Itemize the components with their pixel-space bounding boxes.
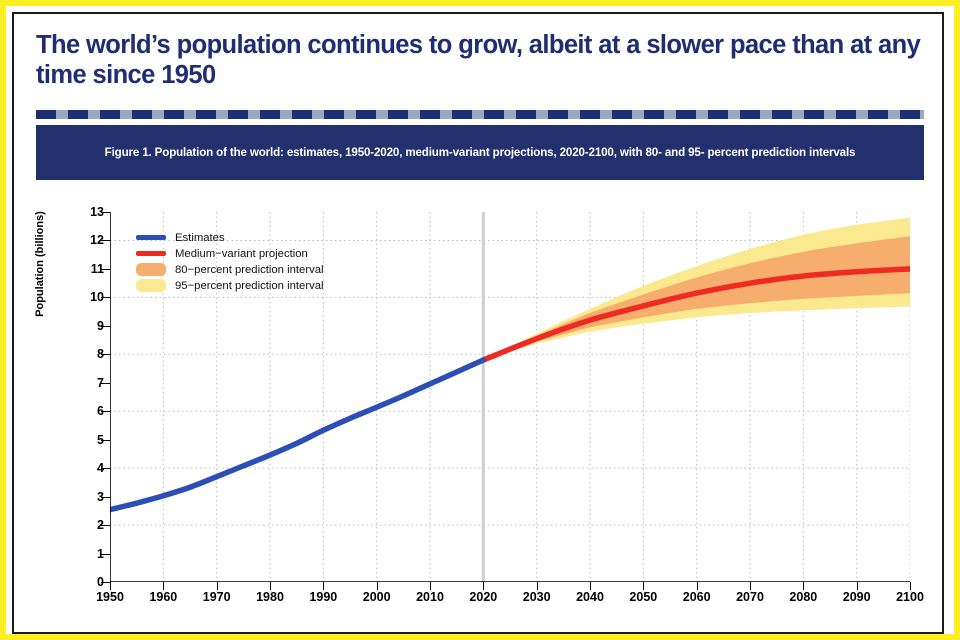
x-tick-mark <box>483 582 484 590</box>
legend-item: 80−percent prediction interval <box>136 262 324 277</box>
y-tick-mark <box>101 383 110 384</box>
y-tick-mark <box>101 497 110 498</box>
y-tick-mark <box>101 354 110 355</box>
x-tick-label: 1970 <box>187 590 247 604</box>
y-axis-label: Population (billions) <box>34 164 46 364</box>
y-tick-label: 9 <box>64 319 104 333</box>
y-tick-label: 4 <box>64 461 104 475</box>
x-tick-mark <box>537 582 538 590</box>
x-tick-label: 1960 <box>133 590 193 604</box>
y-tick-label: 6 <box>64 404 104 418</box>
x-tick-label: 2010 <box>400 590 460 604</box>
y-tick-mark <box>101 240 110 241</box>
x-tick-mark <box>803 582 804 590</box>
x-tick-label: 2030 <box>507 590 567 604</box>
dashed-divider <box>36 110 924 119</box>
legend-swatch-icon <box>136 263 166 276</box>
y-tick-mark <box>101 525 110 526</box>
legend-item: Estimates <box>136 230 324 245</box>
legend-swatch-icon <box>136 235 166 240</box>
y-tick-label: 3 <box>64 490 104 504</box>
y-tick-mark <box>101 468 110 469</box>
x-tick-mark <box>910 582 911 590</box>
x-tick-label: 1980 <box>240 590 300 604</box>
x-tick-mark <box>697 582 698 590</box>
figure-caption-band: Figure 1. Population of the world: estim… <box>36 125 924 180</box>
x-tick-mark <box>217 582 218 590</box>
x-tick-label: 2080 <box>773 590 833 604</box>
y-tick-label: 7 <box>64 376 104 390</box>
legend-label: Medium−variant projection <box>175 248 308 260</box>
x-tick-label: 2070 <box>720 590 780 604</box>
x-tick-label: 2090 <box>827 590 887 604</box>
figure-page: The world’s population continues to grow… <box>0 0 960 640</box>
page-title: The world’s population continues to grow… <box>36 30 926 90</box>
x-tick-mark <box>643 582 644 590</box>
x-tick-mark <box>270 582 271 590</box>
y-tick-label: 2 <box>64 518 104 532</box>
x-tick-mark <box>590 582 591 590</box>
legend-label: 80−percent prediction interval <box>175 264 324 276</box>
x-tick-label: 2020 <box>453 590 513 604</box>
plot-wrapper: EstimatesMedium−variant projection80−per… <box>110 212 910 582</box>
y-tick-mark <box>101 582 110 583</box>
y-tick-label: 1 <box>64 547 104 561</box>
legend-label: 95−percent prediction interval <box>175 280 324 292</box>
y-tick-mark <box>101 269 110 270</box>
y-tick-mark <box>101 440 110 441</box>
legend-swatch-icon <box>136 251 166 256</box>
x-tick-mark <box>430 582 431 590</box>
x-tick-mark <box>857 582 858 590</box>
legend-item: Medium−variant projection <box>136 246 324 261</box>
y-tick-label: 11 <box>64 262 104 276</box>
legend-item: 95−percent prediction interval <box>136 278 324 293</box>
y-tick-mark <box>101 326 110 327</box>
x-tick-mark <box>323 582 324 590</box>
x-tick-label: 2000 <box>347 590 407 604</box>
x-tick-label: 1990 <box>293 590 353 604</box>
y-tick-label: 12 <box>64 233 104 247</box>
y-tick-label: 10 <box>64 290 104 304</box>
x-tick-label: 2040 <box>560 590 620 604</box>
x-tick-mark <box>110 582 111 590</box>
chart-legend: EstimatesMedium−variant projection80−per… <box>136 230 324 294</box>
line-estimates <box>110 360 483 510</box>
y-tick-mark <box>101 297 110 298</box>
legend-label: Estimates <box>175 232 225 244</box>
x-tick-mark <box>750 582 751 590</box>
content-area: The world’s population continues to grow… <box>14 14 942 632</box>
y-tick-mark <box>101 554 110 555</box>
x-tick-label: 1950 <box>80 590 140 604</box>
x-tick-label: 2100 <box>880 590 940 604</box>
y-tick-label: 5 <box>64 433 104 447</box>
y-tick-label: 8 <box>64 347 104 361</box>
y-tick-label: 13 <box>64 205 104 219</box>
inner-frame: The world’s population continues to grow… <box>12 12 944 634</box>
chart-area: Population (billions) EstimatesMedium−va… <box>36 194 924 624</box>
x-tick-mark <box>377 582 378 590</box>
legend-swatch-icon <box>136 279 166 292</box>
y-tick-mark <box>101 212 110 213</box>
y-tick-label: 0 <box>64 575 104 589</box>
y-tick-mark <box>101 411 110 412</box>
x-tick-label: 2050 <box>613 590 673 604</box>
x-tick-mark <box>163 582 164 590</box>
x-tick-label: 2060 <box>667 590 727 604</box>
figure-caption-text: Figure 1. Population of the world: estim… <box>95 146 866 159</box>
